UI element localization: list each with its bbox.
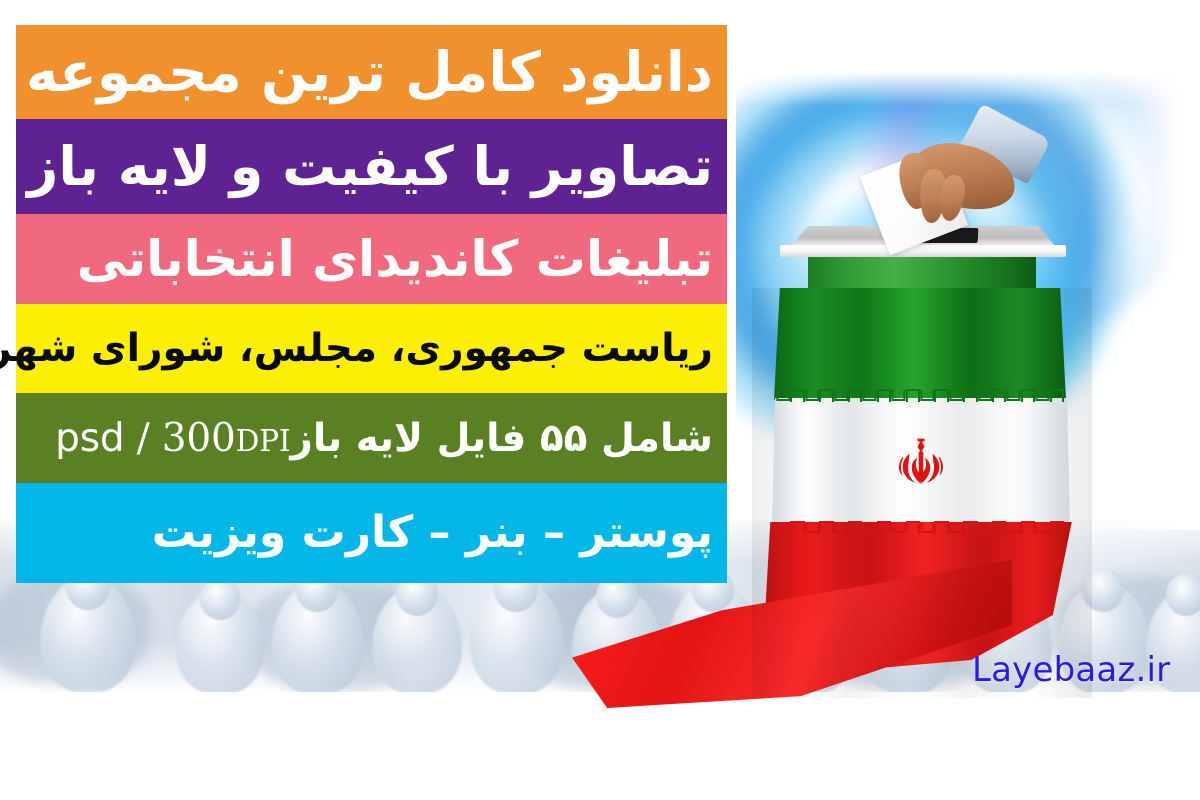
bar-quality-layered: تصاویر با کیفیت و لایه باز xyxy=(16,119,727,214)
swirl-fade-right xyxy=(1090,60,1200,530)
bar-product-types: پوستر – بنر – کارت ویزیت xyxy=(16,483,727,583)
site-watermark: Layebaaz.ir xyxy=(972,650,1170,690)
bar-5-text: شامل ۵۵ فایل لایه باز psd / 300DPI xyxy=(30,419,713,458)
bar-5-dpi-unit: DPI xyxy=(236,423,291,458)
takbir-script-top xyxy=(776,388,1064,402)
bar-1-text: دانلود کامل ترین مجموعه xyxy=(30,45,713,100)
iran-flag xyxy=(752,288,1092,698)
takbir-script-bottom xyxy=(776,520,1064,534)
bar-3-text: تبلیغات کاندیدای انتخاباتی xyxy=(30,234,713,284)
bar-2-text: تصاویر با کیفیت و لایه باز xyxy=(30,140,713,194)
bar-election-types: ریاست جمهوری، مجلس، شورای شهر و .. xyxy=(16,304,727,393)
crowd-figure-head xyxy=(200,578,240,620)
iran-emblem-icon xyxy=(892,434,950,492)
bar-candidate-advertising: تبلیغات کاندیدای انتخاباتی xyxy=(16,214,727,304)
bar-file-specs: شامل ۵۵ فایل لایه باز psd / 300DPI xyxy=(16,393,727,483)
bar-5-separator: / xyxy=(137,416,150,461)
bar-download-complete-set: دانلود کامل ترین مجموعه xyxy=(16,25,727,119)
poster-canvas: دانلود کامل ترین مجموعه تصاویر با کیفیت … xyxy=(0,0,1200,800)
crowd-figure-head xyxy=(1166,574,1200,616)
headline-bars: دانلود کامل ترین مجموعه تصاویر با کیفیت … xyxy=(16,25,727,583)
bar-6-text: پوستر – بنر – کارت ویزیت xyxy=(30,511,713,555)
bar-4-text: ریاست جمهوری، مجلس، شورای شهر و .. xyxy=(30,329,713,368)
ballot-box-lid-rim xyxy=(780,245,1066,257)
bar-5-persian-text: شامل ۵۵ فایل لایه باز xyxy=(290,416,713,461)
bar-5-dpi-number: 300 xyxy=(162,416,236,461)
flag-green-band xyxy=(774,288,1066,400)
bar-5-format-label: psd xyxy=(55,416,124,461)
